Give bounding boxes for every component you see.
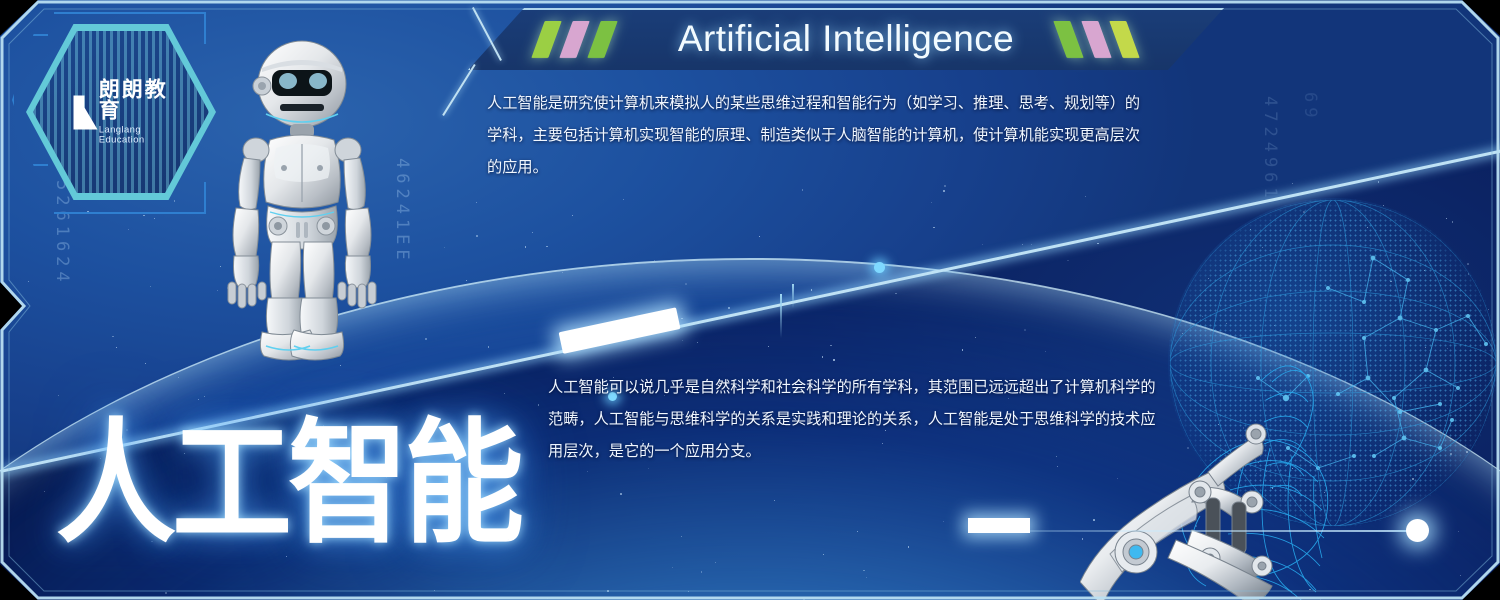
langlang-L-mark-icon [74, 95, 92, 129]
paragraph-2: 人工智能可以说几乎是自然科学和社会科学的所有学科，其范围已远远超出了计算机科学的… [548, 372, 1162, 468]
logo-name-cn: 朗朗教育 [99, 80, 169, 122]
slash-pink-2 [1081, 21, 1111, 58]
paragraph-1: 人工智能是研究使计算机来模拟人的某些思维过程和智能行为（如学习、推理、思考、规划… [487, 88, 1147, 184]
banner-slashes-left [538, 21, 611, 58]
banner-slashes-right [1060, 21, 1133, 58]
logo-mark: 朗朗教育 Langlang Education [74, 80, 169, 145]
humanoid-robot-icon [196, 36, 408, 366]
logo-text: 朗朗教育 Langlang Education [99, 80, 169, 145]
deco-number-column-3: 4724961 [1260, 96, 1280, 203]
bottom-connector-line [968, 530, 1428, 532]
ai-poster: 5261624 46241EE 4724961 69 [0, 0, 1500, 600]
bottom-connector-dot [1406, 519, 1429, 542]
page-title: 人工智能 [56, 418, 520, 552]
slash-pink-1 [559, 21, 589, 58]
banner-content: Artificial Intelligence [468, 8, 1224, 70]
bottom-connector-chip [968, 518, 1030, 533]
brand-logo: 朗朗教育 Langlang Education [26, 24, 216, 200]
logo-name-en: Langlang Education [99, 126, 169, 145]
poster-frame: 5261624 46241EE 4724961 69 [0, 0, 1500, 600]
deco-number-column-4: 69 [1300, 92, 1320, 122]
glow-dot-1 [874, 262, 885, 273]
